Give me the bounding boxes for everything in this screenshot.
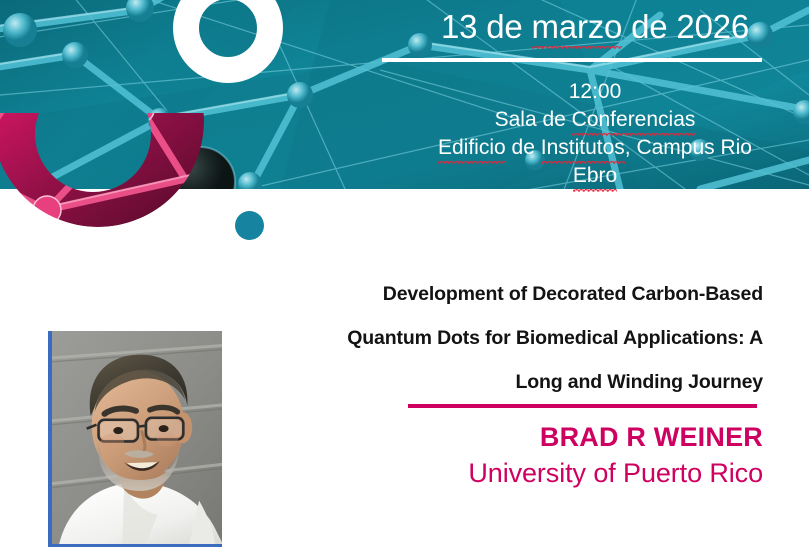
venue-room: Sala de Conferencias: [381, 106, 809, 134]
venue-building-mid: de: [506, 136, 541, 159]
speaker-photo: [48, 331, 222, 547]
talk-title: Development of Decorated Carbon-Based Qu…: [220, 272, 763, 404]
pink-ring-clip: [0, 113, 204, 309]
speaker-name: BRAD R WEINER: [300, 420, 763, 454]
speaker-block: BRAD R WEINER University of Puerto Rico: [300, 420, 763, 492]
venue-campus: Ebro: [381, 162, 809, 190]
talk-title-line-2: Quantum Dots for Biomedical Applications…: [220, 316, 763, 360]
teal-dot-shape: [235, 211, 264, 240]
event-time: 12:00: [381, 78, 809, 106]
venue-campus-misspelled-word: Ebro: [573, 162, 617, 190]
title-speaker-divider-rule: [408, 404, 757, 408]
speaker-affiliation: University of Puerto Rico: [300, 454, 763, 492]
venue-room-prefix: Sala de: [495, 108, 572, 131]
pink-ring-shape: [0, 113, 204, 227]
talk-title-line-3: Long and Winding Journey: [220, 360, 763, 404]
seminar-poster: 13 de marzo de 2026 12:00 Sala de Confer…: [0, 0, 809, 550]
talk-title-line-1: Development of Decorated Carbon-Based: [220, 272, 763, 316]
event-date-prefix: 13 de: [441, 8, 532, 45]
event-date: 13 de marzo de 2026: [381, 0, 809, 47]
venue-building: Edificio de Institutos, Campus Rio: [381, 134, 809, 162]
venue-block: 12:00 Sala de Conferencias Edificio de I…: [381, 78, 809, 190]
venue-building-misspelled-word-2: Institutos: [541, 134, 625, 162]
header-text-block: 13 de marzo de 2026 12:00 Sala de Confer…: [381, 0, 809, 189]
event-date-misspelled-word: marzo: [532, 7, 623, 47]
venue-building-misspelled-word: Edificio: [438, 134, 506, 162]
venue-room-misspelled-word: Conferencias: [572, 106, 696, 134]
header-divider-rule: [382, 58, 762, 62]
speaker-portrait-image: [52, 331, 222, 544]
event-date-suffix: de 2026: [622, 8, 749, 45]
venue-building-suffix: , Campus Rio: [625, 136, 752, 159]
